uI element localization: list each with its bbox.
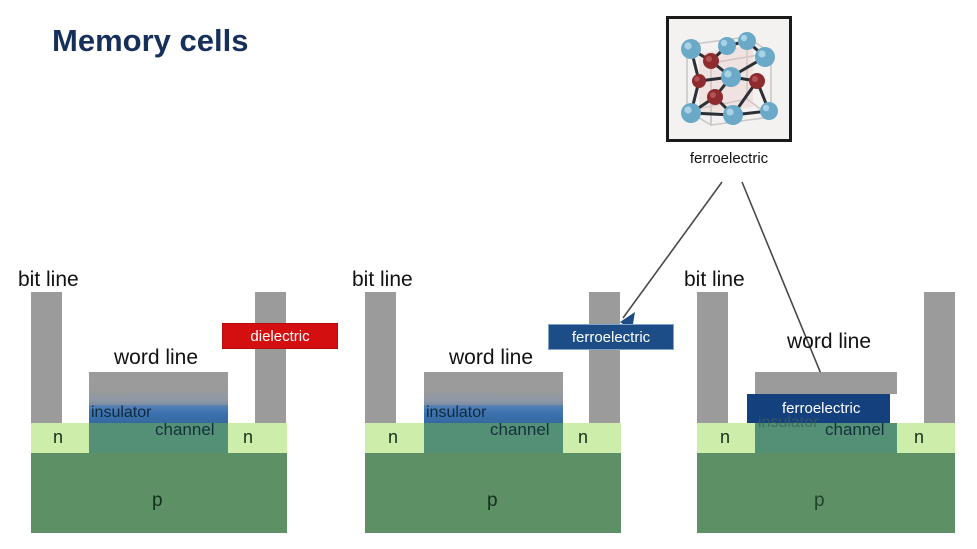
cell2-insulator-label: insulator: [426, 404, 486, 422]
cell3-n-right-label: n: [914, 427, 924, 448]
cell1-insulator-label: insulator: [91, 404, 151, 422]
page-title: Memory cells: [52, 23, 248, 59]
cell1-n-left-label: n: [53, 427, 63, 448]
cell2-word-line-label: word line: [449, 346, 533, 370]
cell2-channel-label: channel: [490, 420, 550, 440]
cell3-n-left-label: n: [720, 427, 730, 448]
cell1-channel-label: channel: [155, 420, 215, 440]
cell1-bit-line-left: [31, 292, 62, 423]
cell3-insulator-label: insulator: [758, 414, 818, 432]
cell2-bit-line-left: [365, 292, 396, 423]
cell1-n-right-label: n: [243, 427, 253, 448]
cell2-n-right-label: n: [578, 427, 588, 448]
crystal-lattice-icon: [669, 19, 789, 139]
callout-dielectric[interactable]: dielectric: [222, 323, 338, 349]
cell3-bit-line-label: bit line: [684, 268, 745, 292]
slide-canvas: Memory cells: [0, 0, 977, 549]
cell2-p-label: p: [487, 490, 498, 512]
cell2-word-line-gate: [424, 372, 563, 405]
crystal-caption: ferroelectric: [666, 150, 792, 167]
cell3-bit-line-left: [697, 292, 728, 423]
cell1-bit-line-label: bit line: [18, 268, 79, 292]
cell1-bit-line-right: [255, 292, 286, 423]
cell2-bit-line-label: bit line: [352, 268, 413, 292]
cell3-word-line-label: word line: [787, 330, 871, 354]
cell1-p-label: p: [152, 490, 163, 512]
cell3-p-label: p: [814, 490, 825, 512]
arrow-to-cell3-gate: [742, 182, 832, 392]
ferroelectric-crystal-image: [666, 16, 792, 142]
callout-ferroelectric-bitline[interactable]: ferroelectric: [548, 324, 674, 350]
cell1-word-line-gate: [89, 372, 228, 405]
cell2-n-left-label: n: [388, 427, 398, 448]
cell2-bit-line-right: [589, 292, 620, 423]
cell3-word-line-gate: [755, 372, 897, 394]
cell3-bit-line-right: [924, 292, 955, 423]
cell3-channel-label: channel: [825, 420, 885, 440]
cell1-word-line-label: word line: [114, 346, 198, 370]
